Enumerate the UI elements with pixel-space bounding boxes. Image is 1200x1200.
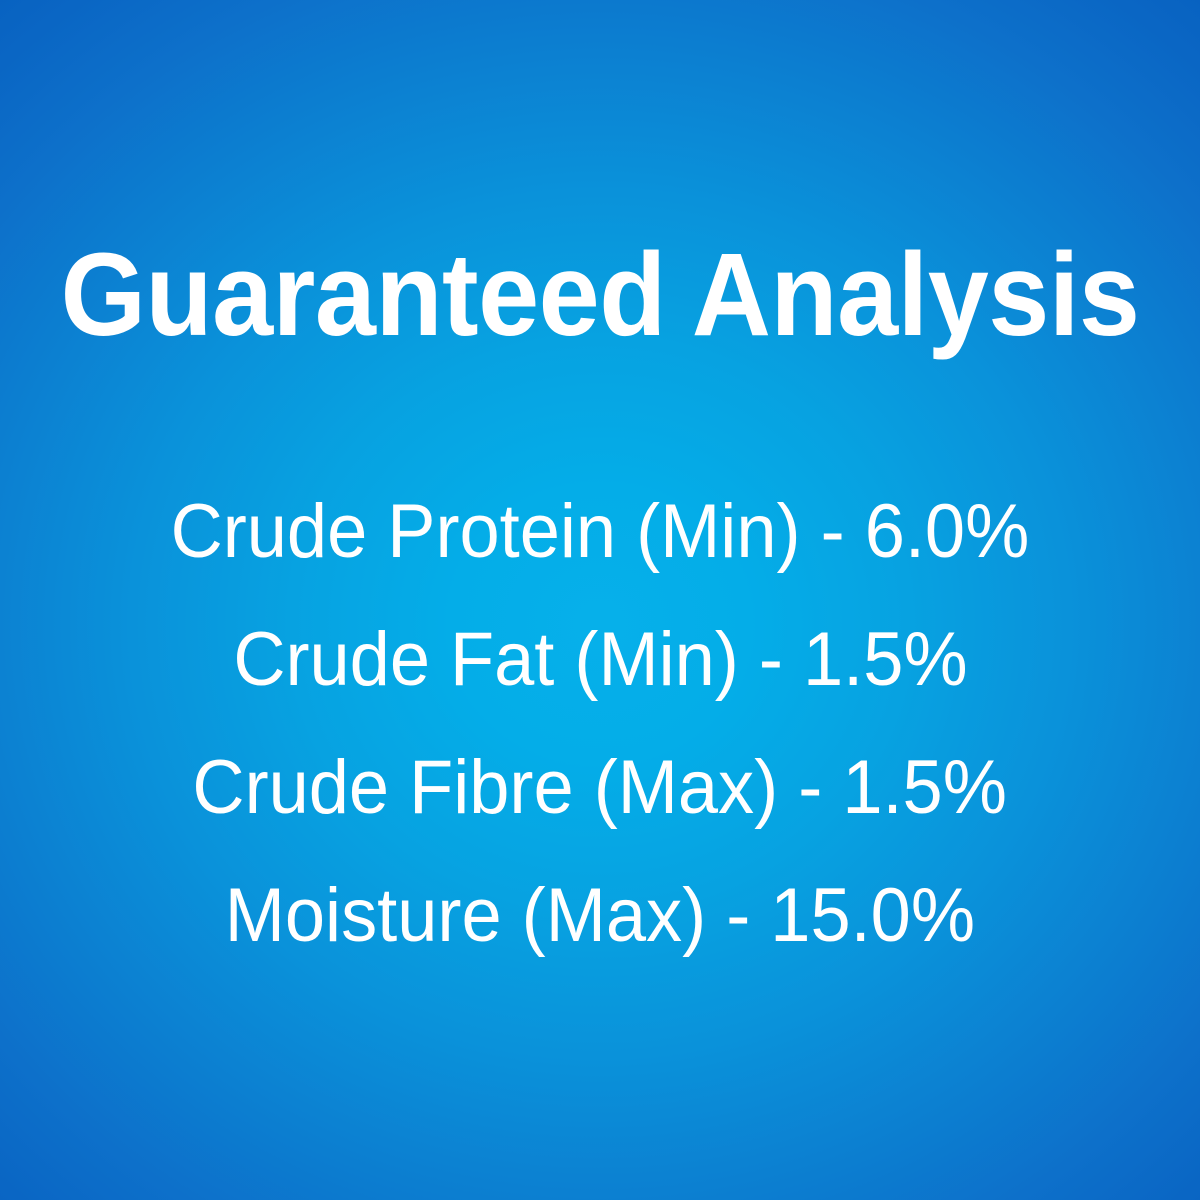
analysis-row-label: Crude Fat (Min) - 1.5%	[233, 622, 967, 698]
guaranteed-analysis-list: Crude Protein (Min) - 6.0% Crude Fat (Mi…	[0, 468, 1200, 980]
page-title: Guaranteed Analysis	[61, 236, 1140, 354]
analysis-row: Moisture (Max) - 15.0%	[0, 852, 1200, 980]
analysis-row-label: Moisture (Max) - 15.0%	[225, 878, 975, 954]
analysis-row: Crude Fat (Min) - 1.5%	[0, 596, 1200, 724]
analysis-row: Crude Protein (Min) - 6.0%	[0, 468, 1200, 596]
analysis-row: Crude Fibre (Max) - 1.5%	[0, 724, 1200, 852]
guaranteed-analysis-panel: Guaranteed Analysis Crude Protein (Min) …	[0, 0, 1200, 1200]
analysis-row-label: Crude Protein (Min) - 6.0%	[171, 494, 1030, 570]
analysis-row-label: Crude Fibre (Max) - 1.5%	[193, 750, 1007, 826]
page-title-block: Guaranteed Analysis	[0, 236, 1200, 354]
